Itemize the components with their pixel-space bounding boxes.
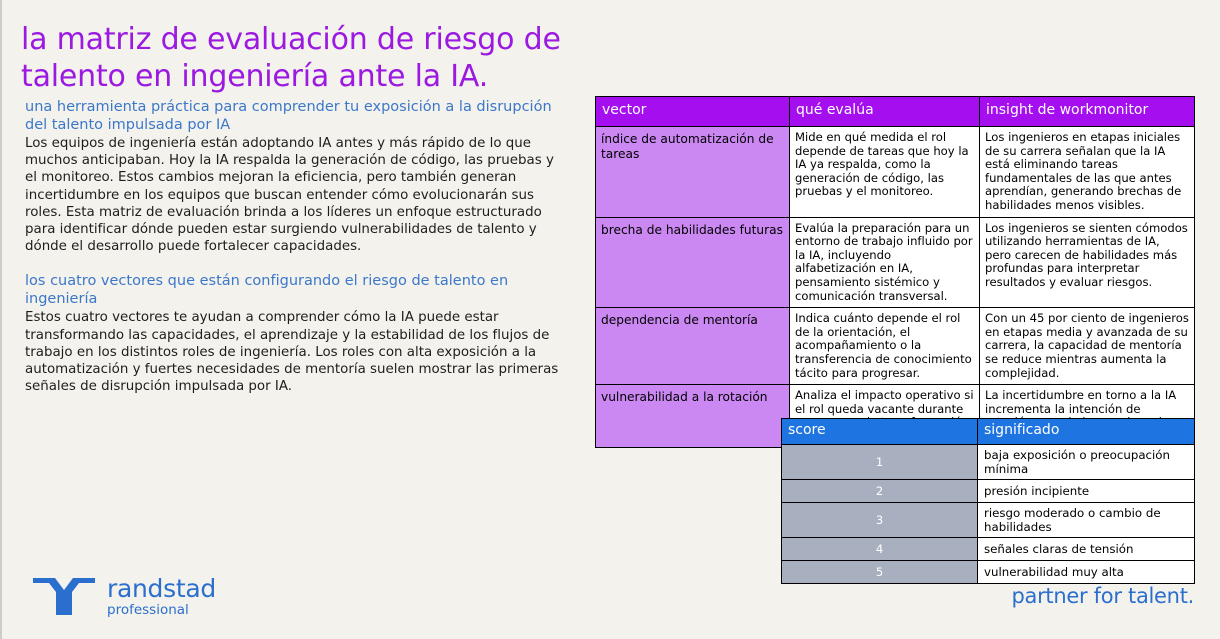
intro-paragraph-2: Estos cuatro vectores te ayudan a compre…	[25, 309, 562, 395]
brand-tagline: partner for talent.	[1011, 584, 1194, 608]
score-value: 1	[782, 445, 978, 480]
intro-heading-1: una herramienta práctica para comprender…	[25, 99, 562, 134]
matrix-cell-vector: brecha de habilidades futuras	[596, 217, 790, 308]
score-value: 5	[782, 561, 978, 584]
list-item: 3 riesgo moderado o cambio de habilidade…	[782, 503, 1195, 538]
list-item: 1 baja exposición o preocupación mínima	[782, 445, 1195, 480]
matrix-cell-vector: dependencia de mentoría	[596, 308, 790, 385]
matrix-header-row: vector qué evalúa insight de workmonitor	[596, 97, 1195, 127]
score-value: 3	[782, 503, 978, 538]
matrix-cell-evalua: Evalúa la preparación para un entorno de…	[790, 217, 980, 308]
intro-paragraph-1: Los equipos de ingeniería están adoptand…	[25, 135, 562, 255]
score-meaning: vulnerabilidad muy alta	[978, 561, 1195, 584]
intro-heading-2: los cuatro vectores que están configuran…	[25, 273, 562, 308]
table-row: índice de automatización de tareas Mide …	[596, 127, 1195, 218]
matrix-col-vector: vector	[596, 97, 790, 127]
matrix-cell-evalua: Mide en qué medida el rol depende de tar…	[790, 127, 980, 218]
score-meaning: señales claras de tensión	[978, 538, 1195, 561]
score-meaning: riesgo moderado o cambio de habilidades	[978, 503, 1195, 538]
score-value: 2	[782, 480, 978, 503]
score-col-score: score	[782, 419, 978, 445]
matrix-cell-evalua: Indica cuánto depende el rol de la orien…	[790, 308, 980, 385]
matrix-col-insight: insight de workmonitor	[980, 97, 1195, 127]
page-canvas: la matriz de evaluación de riesgo de tal…	[0, 0, 1220, 639]
score-meaning: baja exposición o preocupación mínima	[978, 445, 1195, 480]
table-row: brecha de habilidades futuras Evalúa la …	[596, 217, 1195, 308]
matrix-cell-vector: vulnerabilidad a la rotación	[596, 385, 790, 448]
score-col-significado: significado	[978, 419, 1195, 445]
randstad-wordmark: randstad professional	[107, 576, 216, 618]
score-meaning: presión incipiente	[978, 480, 1195, 503]
list-item: 2 presión incipiente	[782, 480, 1195, 503]
matrix-cell-vector: índice de automatización de tareas	[596, 127, 790, 218]
matrix-cell-insight: Los ingenieros se sienten cómodos utiliz…	[980, 217, 1195, 308]
risk-matrix-table: vector qué evalúa insight de workmonitor…	[595, 96, 1195, 448]
score-header-row: score significado	[782, 419, 1195, 445]
intro-column: una herramienta práctica para comprender…	[25, 99, 562, 395]
matrix-cell-insight: Los ingenieros en etapas iniciales de su…	[980, 127, 1195, 218]
list-item: 5 vulnerabilidad muy alta	[782, 561, 1195, 584]
logo-word: randstad	[107, 576, 216, 602]
matrix-col-evalua: qué evalúa	[790, 97, 980, 127]
matrix-cell-insight: Con un 45 por ciento de ingenieros en et…	[980, 308, 1195, 385]
table-row: dependencia de mentoría Indica cuánto de…	[596, 308, 1195, 385]
logo-subbrand: professional	[107, 603, 216, 618]
page-title: la matriz de evaluación de riesgo de tal…	[21, 21, 581, 95]
score-legend-table: score significado 1 baja exposición o pr…	[781, 418, 1195, 584]
score-value: 4	[782, 538, 978, 561]
randstad-logo: randstad professional	[33, 574, 216, 620]
list-item: 4 señales claras de tensión	[782, 538, 1195, 561]
randstad-tuning-fork-icon	[33, 574, 95, 620]
